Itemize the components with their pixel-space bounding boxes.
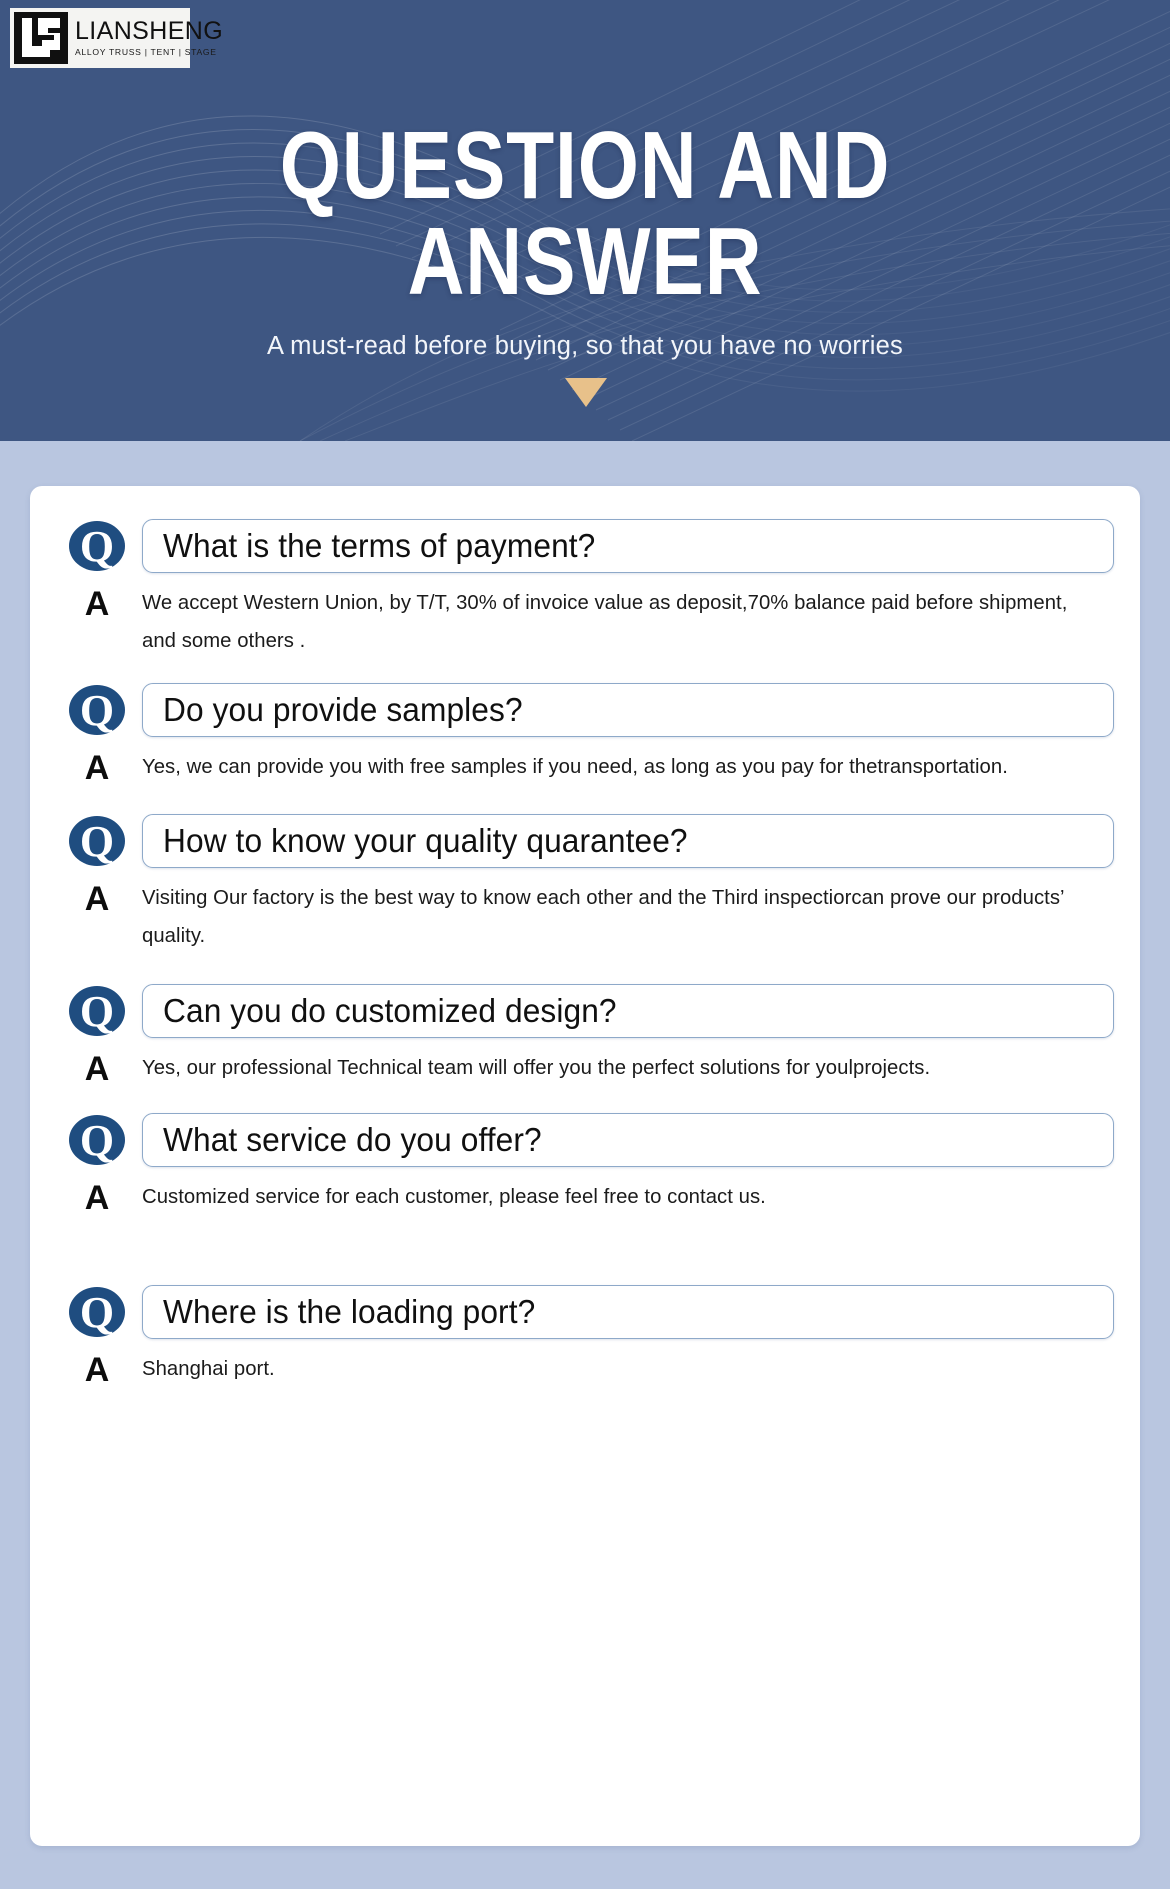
faq-page: LIANSHENG ALLOY TRUSS | TENT | STAGE QUE… xyxy=(0,0,1170,1889)
question-badge-icon: Q xyxy=(66,518,128,574)
question-row[interactable]: Q What service do you offer? xyxy=(56,1112,1114,1168)
question-box[interactable]: Do you provide samples? xyxy=(142,683,1114,737)
answer-badge: A xyxy=(66,879,128,918)
question-row[interactable]: Q Do you provide samples? xyxy=(56,682,1114,738)
triangle-down-icon xyxy=(565,378,607,407)
svg-text:Q: Q xyxy=(80,1116,114,1165)
svg-text:Q: Q xyxy=(80,987,114,1036)
brand-name: LIANSHENG xyxy=(75,19,223,44)
answer-text: Yes, our professional Technical team wil… xyxy=(142,1049,1092,1087)
answer-row: A Yes, our professional Technical team w… xyxy=(56,1049,1114,1088)
answer-text: Visiting Our factory is the best way to … xyxy=(142,879,1092,955)
page-title: QUESTION AND ANSWER xyxy=(105,118,1064,310)
question-text: Do you provide samples? xyxy=(163,691,523,729)
answer-badge: A xyxy=(66,584,128,623)
svg-text:Q: Q xyxy=(80,1288,114,1337)
question-badge-icon: Q xyxy=(66,983,128,1039)
question-row[interactable]: Q What is the terms of payment? xyxy=(56,518,1114,574)
answer-row: A We accept Western Union, by T/T, 30% o… xyxy=(56,584,1114,660)
faq-item: Q What is the terms of payment? A We acc… xyxy=(56,518,1114,660)
faq-item: Q What service do you offer? A Customize… xyxy=(56,1112,1114,1217)
answer-row: A Customized service for each customer, … xyxy=(56,1178,1114,1217)
faq-item: Q How to know your quality quarantee? A … xyxy=(56,813,1114,955)
question-badge-icon: Q xyxy=(66,682,128,738)
question-text: How to know your quality quarantee? xyxy=(163,822,688,860)
answer-text: Shanghai port. xyxy=(142,1350,1092,1388)
question-row[interactable]: Q Where is the loading port? xyxy=(56,1284,1114,1340)
faq-card: Q What is the terms of payment? A We acc… xyxy=(30,486,1140,1846)
answer-text: Customized service for each customer, pl… xyxy=(142,1178,1092,1216)
answer-text: Yes, we can provide you with free sample… xyxy=(142,748,1092,786)
question-row[interactable]: Q Can you do customized design? xyxy=(56,983,1114,1039)
brand-logo-text: LIANSHENG ALLOY TRUSS | TENT | STAGE xyxy=(75,19,223,57)
question-box[interactable]: What is the terms of payment? xyxy=(142,519,1114,573)
question-box[interactable]: How to know your quality quarantee? xyxy=(142,814,1114,868)
faq-list: Q What is the terms of payment? A We acc… xyxy=(56,518,1114,1389)
answer-badge: A xyxy=(66,1049,128,1088)
ls-monogram-icon xyxy=(14,12,68,64)
answer-row: A Yes, we can provide you with free samp… xyxy=(56,748,1114,787)
question-box[interactable]: Where is the loading port? xyxy=(142,1285,1114,1339)
svg-text:Q: Q xyxy=(80,522,114,571)
question-box[interactable]: Can you do customized design? xyxy=(142,984,1114,1038)
question-badge-icon: Q xyxy=(66,1284,128,1340)
answer-badge: A xyxy=(66,748,128,787)
question-badge-icon: Q xyxy=(66,1112,128,1168)
faq-item: Q Can you do customized design? A Yes, o… xyxy=(56,983,1114,1088)
question-badge-icon: Q xyxy=(66,813,128,869)
page-subtitle: A must-read before buying, so that you h… xyxy=(0,332,1170,361)
answer-badge: A xyxy=(66,1350,128,1389)
question-text: Where is the loading port? xyxy=(163,1293,535,1331)
brand-tagline: ALLOY TRUSS | TENT | STAGE xyxy=(75,48,223,57)
svg-text:Q: Q xyxy=(80,817,114,866)
question-text: Can you do customized design? xyxy=(163,992,617,1030)
question-text: What service do you offer? xyxy=(163,1121,542,1159)
question-row[interactable]: Q How to know your quality quarantee? xyxy=(56,813,1114,869)
answer-row: A Visiting Our factory is the best way t… xyxy=(56,879,1114,955)
question-box[interactable]: What service do you offer? xyxy=(142,1113,1114,1167)
answer-text: We accept Western Union, by T/T, 30% of … xyxy=(142,584,1092,660)
question-text: What is the terms of payment? xyxy=(163,527,595,565)
answer-badge: A xyxy=(66,1178,128,1217)
faq-item: Q Where is the loading port? A Shanghai … xyxy=(56,1284,1114,1389)
answer-row: A Shanghai port. xyxy=(56,1350,1114,1389)
page-header: LIANSHENG ALLOY TRUSS | TENT | STAGE QUE… xyxy=(0,0,1170,441)
svg-text:Q: Q xyxy=(80,686,114,735)
brand-logo: LIANSHENG ALLOY TRUSS | TENT | STAGE xyxy=(10,8,190,68)
faq-item: Q Do you provide samples? A Yes, we can … xyxy=(56,682,1114,787)
